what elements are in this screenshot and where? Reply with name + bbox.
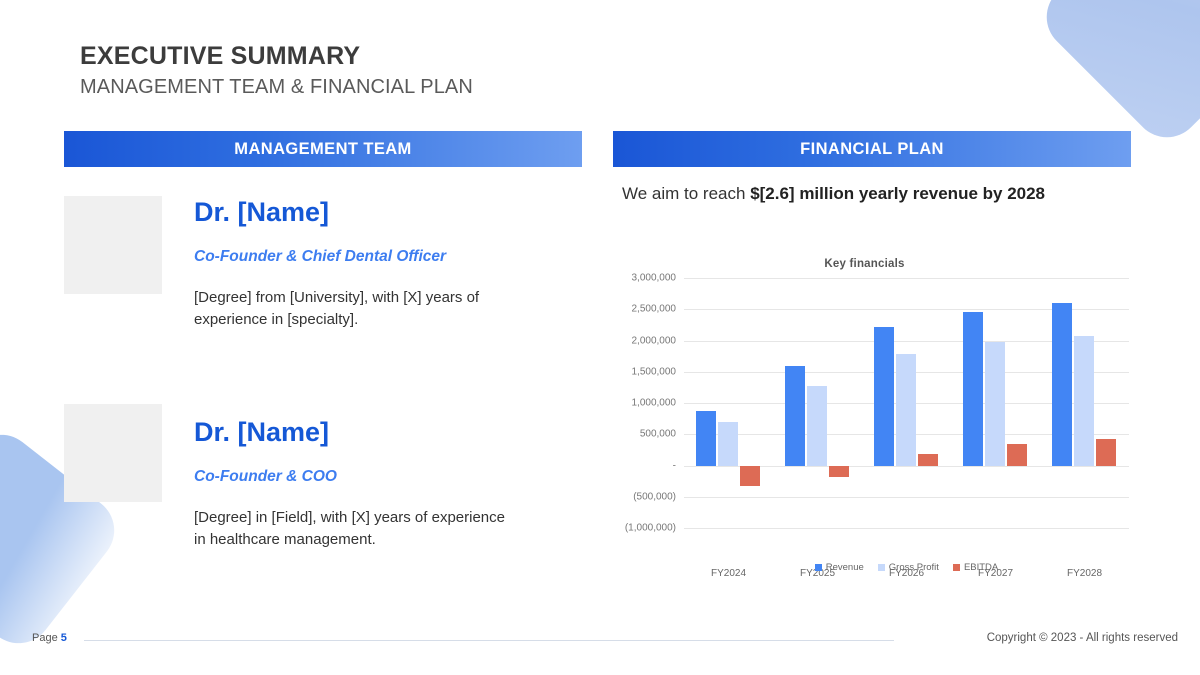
chart-gridline: (1,000,000) [684, 528, 1129, 529]
chart-bar [829, 466, 849, 477]
chart-y-tick-label: 1,500,000 [632, 366, 677, 377]
chart-bar [1007, 444, 1027, 465]
footer-copyright: Copyright © 2023 - All rights reserved [987, 632, 1178, 644]
legend-swatch-icon [815, 564, 822, 571]
team-member: Dr. [Name] Co-Founder & COO [Degree] in … [64, 404, 584, 552]
footer-page-number: 5 [61, 632, 67, 644]
legend-swatch-icon [953, 564, 960, 571]
team-member-bio: [Degree] from [University], with [X] yea… [194, 287, 484, 332]
chart-bar [1096, 439, 1116, 466]
page-title: EXECUTIVE SUMMARY [80, 42, 473, 71]
management-team-list: Dr. [Name] Co-Founder & Chief Dental Off… [64, 196, 584, 552]
key-financials-chart: Key financials 3,000,0002,500,0002,000,0… [592, 250, 1137, 580]
footer-divider [84, 640, 894, 641]
avatar [64, 404, 162, 502]
chart-bar [918, 454, 938, 466]
page-subtitle: MANAGEMENT TEAM & FINANCIAL PLAN [80, 75, 473, 99]
team-member-role: Co-Founder & Chief Dental Officer [194, 248, 484, 267]
chart-y-tick-label: 3,000,000 [632, 273, 677, 284]
legend-label: Gross Profit [889, 562, 939, 573]
slide: EXECUTIVE SUMMARY MANAGEMENT TEAM & FINA… [0, 0, 1200, 675]
chart-bar [718, 422, 738, 466]
chart-bar [1052, 303, 1072, 466]
chart-plot-area: 3,000,0002,500,0002,000,0001,500,0001,00… [684, 278, 1129, 528]
chart-y-tick-label: 1,000,000 [632, 398, 677, 409]
legend-label: Revenue [826, 562, 864, 573]
chart-bar [985, 342, 1005, 466]
team-member-role: Co-Founder & COO [194, 468, 514, 487]
footer-page-label: Page [32, 632, 58, 644]
chart-bar [896, 354, 916, 465]
chart-bar-group [684, 278, 773, 528]
legend-label: EBITDA [964, 562, 998, 573]
team-member-name: Dr. [Name] [194, 418, 514, 446]
chart-bar-group [951, 278, 1040, 528]
legend-swatch-icon [878, 564, 885, 571]
chart-y-tick-label: 2,000,000 [632, 335, 677, 346]
chart-bar-group [1040, 278, 1129, 528]
team-member-details: Dr. [Name] Co-Founder & Chief Dental Off… [162, 196, 484, 332]
chart-legend-item: EBITDA [953, 562, 998, 573]
slide-header: EXECUTIVE SUMMARY MANAGEMENT TEAM & FINA… [80, 42, 473, 99]
financial-headline-prefix: We aim to reach [622, 184, 750, 203]
team-member-bio: [Degree] in [Field], with [X] years of e… [194, 507, 514, 552]
section-banner-financial-plan: FINANCIAL PLAN [613, 131, 1131, 167]
chart-bar-group [773, 278, 862, 528]
financial-plan-column: We aim to reach $[2.6] million yearly re… [622, 182, 1132, 207]
chart-y-tick-label: 2,500,000 [632, 304, 677, 315]
section-banner-management-team: MANAGEMENT TEAM [64, 131, 582, 167]
chart-y-tick-label: (500,000) [633, 491, 676, 502]
chart-bar [1074, 336, 1094, 466]
chart-y-tick-label: - [673, 460, 676, 471]
chart-bar [785, 366, 805, 466]
chart-legend-item: Revenue [815, 562, 864, 573]
decorative-shape-top-right [1033, 0, 1200, 151]
chart-legend: RevenueGross ProfitEBITDA [684, 562, 1129, 573]
chart-bar [807, 386, 827, 466]
chart-bar [696, 411, 716, 466]
chart-bar [874, 327, 894, 465]
team-member: Dr. [Name] Co-Founder & Chief Dental Off… [64, 196, 584, 332]
chart-legend-item: Gross Profit [878, 562, 939, 573]
financial-headline-emphasis: $[2.6] million yearly revenue by 2028 [750, 184, 1045, 203]
avatar [64, 196, 162, 294]
chart-bar [963, 312, 983, 465]
chart-y-tick-label: 500,000 [640, 429, 676, 440]
chart-y-tick-label: (1,000,000) [625, 523, 676, 534]
chart-bar [740, 466, 760, 487]
footer-page-indicator: Page 5 [32, 632, 67, 644]
financial-headline: We aim to reach $[2.6] million yearly re… [622, 182, 1132, 207]
chart-bar-group [862, 278, 951, 528]
team-member-name: Dr. [Name] [194, 198, 484, 226]
chart-title: Key financials [592, 258, 1137, 270]
team-member-details: Dr. [Name] Co-Founder & COO [Degree] in … [162, 404, 514, 552]
